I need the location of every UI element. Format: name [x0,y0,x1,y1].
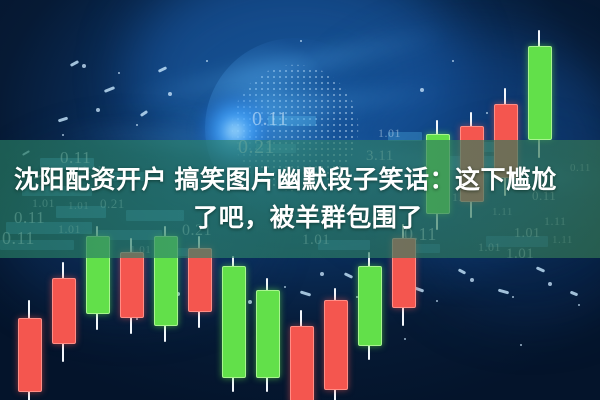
candle-body [290,326,314,400]
bokeh-speck [512,296,514,298]
headline-line-1: 沈阳配资开户 搞笑图片幽默段子笑话：这下尴尬 [14,161,557,199]
bokeh-speck [404,338,406,340]
bokeh-speck [320,272,324,276]
candle-body [120,252,144,318]
candle-body [528,46,552,140]
particle-dash [158,66,167,73]
bokeh-speck [300,40,302,42]
particle-dash [458,268,466,274]
candlestick [528,30,550,158]
bokeh-speck [486,112,488,114]
bokeh-speck [206,60,208,62]
candlestick [324,288,346,400]
candle-body [222,266,246,378]
candle-body [256,290,280,378]
bokeh-speck [284,286,286,288]
article-banner: 0.111.011.010.111.010.110.211.110.110.21… [0,0,600,400]
candlestick [52,262,74,362]
bokeh-speck [452,60,454,62]
particle-dash [70,60,79,67]
particle-dash [498,289,509,295]
headline-block: 沈阳配资开户 搞笑图片幽默段子笑话：这下尴尬 了吧，被羊群包围了 [0,140,600,258]
candlestick [256,278,278,392]
candlestick [358,252,380,360]
candlestick [290,310,312,400]
headline-line-2: 了吧，被羊群包围了 [193,199,423,237]
bokeh-speck [436,300,438,302]
bokeh-speck [118,72,120,74]
particle-dash [344,272,353,279]
candlestick [222,256,244,392]
bokeh-speck [82,64,86,68]
candle-body [358,266,382,346]
candle-body [52,278,76,344]
bokeh-speck [470,278,474,282]
bokeh-speck [168,92,172,96]
bokeh-speck [420,88,424,92]
bokeh-speck [62,134,64,136]
candlestick [18,300,40,400]
bokeh-speck [96,108,100,112]
particle-dash [58,117,68,123]
particle-dash [536,266,545,272]
bokeh-speck [520,344,522,346]
particle-dash [570,291,579,297]
particle-dash [140,110,148,117]
bokeh-speck [136,124,138,126]
candle-body [324,300,348,390]
bokeh-speck [548,282,552,286]
particle-dash [104,86,115,93]
candle-body [18,318,42,392]
bokeh-speck [578,304,580,306]
bokeh-speck [248,300,252,304]
particle-dash [300,290,311,296]
